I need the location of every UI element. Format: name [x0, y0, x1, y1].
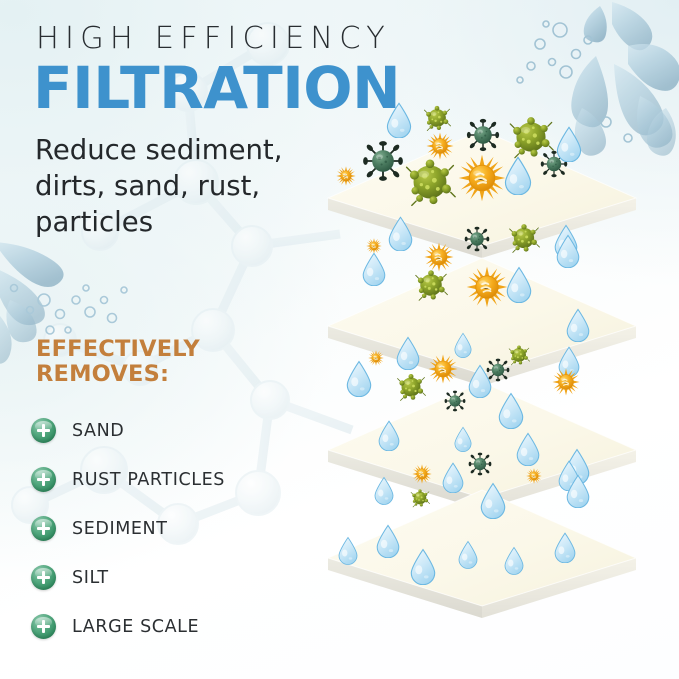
list-item: LARGE SCALE [31, 602, 321, 651]
list-item: SILT [31, 553, 321, 602]
plus-icon [31, 516, 56, 541]
list-item-label: SEDIMENT [72, 519, 168, 539]
filter-layer-3 [328, 345, 636, 510]
removes-list: SAND RUST PARTICLES SEDIMENT SILT LARGE … [31, 406, 321, 651]
plus-icon [31, 418, 56, 443]
plus-icon [31, 614, 56, 639]
plus-icon [31, 467, 56, 492]
list-item-label: SAND [72, 421, 124, 441]
poster-canvas: HIGH EFFICIENCY FILTRATION Reduce sedime… [0, 0, 679, 679]
subtitle-text: Reduce sediment, dirts, sand, rust, part… [35, 132, 325, 240]
list-item-label: RUST PARTICLES [72, 470, 225, 490]
removes-heading-line1: EFFECTIVELY [36, 336, 200, 362]
text-column: HIGH EFFICIENCY FILTRATION Reduce sedime… [0, 0, 340, 679]
multi-stage-filter-stack [318, 96, 679, 679]
list-item: SEDIMENT [31, 504, 321, 553]
list-item: RUST PARTICLES [31, 455, 321, 504]
kicker-text: HIGH EFFICIENCY [36, 24, 391, 55]
removes-heading-line2: REMOVES: [36, 361, 169, 387]
list-item-label: SILT [72, 568, 109, 588]
list-item: SAND [31, 406, 321, 455]
plus-icon [31, 565, 56, 590]
removes-heading: EFFECTIVELY REMOVES: [36, 337, 200, 387]
list-item-label: LARGE SCALE [72, 617, 199, 637]
